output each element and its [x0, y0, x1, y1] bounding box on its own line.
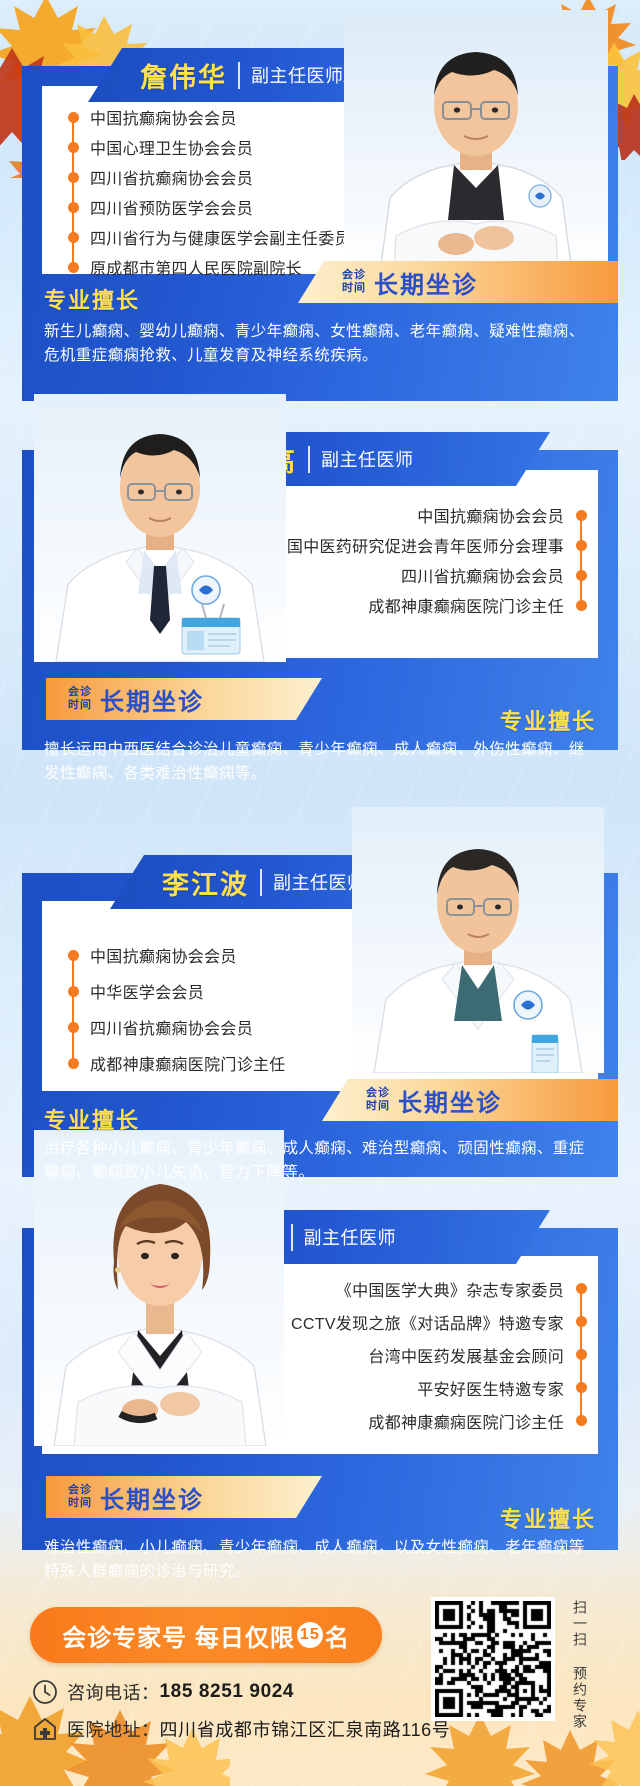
bullet-dot — [68, 172, 79, 183]
specialty-text: 难治性癫痫、小儿癫痫、青少年癫痫、成人癫痫，以及女性癫痫、老年癫痫等特殊人群癫痫… — [44, 1536, 600, 1584]
qr-side-text: 扫一扫 预约专家 — [566, 1600, 588, 1730]
credential-text: 中国抗癫痫协会会员 — [84, 105, 243, 129]
bullet-column — [62, 192, 84, 222]
specialty-title: 专业擅长 — [44, 283, 140, 315]
doctor-photo — [352, 807, 604, 1073]
doctor-name: 李江波 — [162, 863, 249, 902]
specialty-text: 擅长运用中西医结合诊治儿童癫痫、青少年癫痫、成人癫痫、外伤性癫痫、继发性癫痫、各… — [44, 738, 600, 786]
bullet-dot — [68, 112, 79, 123]
credential-text: 成都神康癫痫医院门诊主任 — [362, 593, 570, 617]
credential-text: 四川省抗癫痫协会会员 — [395, 563, 570, 587]
consult-time-value: 长期坐诊 — [374, 265, 478, 300]
name-divider — [238, 62, 240, 89]
credential-text: CCTV发现之旅《对话品牌》特邀专家 — [285, 1310, 570, 1334]
credential-item: 中国抗癫痫协会会员 — [62, 937, 292, 973]
credential-text: 中国抗癫痫协会会员 — [84, 943, 243, 967]
consult-time-label: 会诊 时间 — [68, 686, 92, 712]
credential-text: 平安好医生特邀专家 — [411, 1376, 570, 1400]
consult-time-badge: 会诊 时间 长期坐诊 — [298, 261, 618, 303]
bullet-dot — [68, 1058, 79, 1069]
bullet-column — [62, 1045, 84, 1081]
bullet-dot — [576, 540, 587, 551]
credential-item: 中国中医药研究促进会青年医师分会理事 — [265, 530, 592, 560]
bullet-dot — [68, 262, 79, 273]
credential-item: 成都神康癫痫医院门诊主任 — [62, 1045, 292, 1081]
credentials-list: 中国抗癫痫协会会员 中国心理卫生协会会员 四川省抗癫痫协会会员 四川省预防医学会… — [62, 102, 357, 282]
credential-item: 四川省预防医学会会员 — [62, 192, 357, 222]
consult-time-label-line2: 时间 — [68, 699, 92, 712]
bullet-column — [62, 252, 84, 282]
bullet-column — [570, 560, 592, 590]
credential-item: 成都神康癫痫医院门诊主任 — [265, 590, 592, 620]
phone-label: 咨询电话： — [67, 1679, 160, 1705]
cta-prefix: 会诊专家号 每日仅限 — [62, 1618, 295, 1653]
specialty-title: 专业擅长 — [500, 1502, 596, 1534]
credential-text: 四川省抗癫痫协会会员 — [84, 165, 259, 189]
name-divider — [260, 869, 262, 896]
credential-item: 平安好医生特邀专家 — [285, 1371, 592, 1404]
doctor-name: 詹伟华 — [140, 56, 227, 95]
credential-text: 台湾中医药发展基金会顾问 — [362, 1343, 570, 1367]
address-label: 医院地址： — [67, 1716, 160, 1742]
consult-time-value: 长期坐诊 — [100, 682, 204, 717]
credential-item: 四川省抗癫痫协会会员 — [265, 560, 592, 590]
credential-text: 中华医学会会员 — [84, 979, 210, 1003]
credential-item: CCTV发现之旅《对话品牌》特邀专家 — [285, 1305, 592, 1338]
doctor-photo — [34, 394, 286, 662]
credential-text: 中国抗癫痫协会会员 — [411, 503, 570, 527]
credential-text: 成都神康癫痫医院门诊主任 — [362, 1409, 570, 1433]
bullet-dot — [68, 142, 79, 153]
credential-text: 《中国医学大典》杂志专家委员 — [330, 1277, 570, 1301]
specialty-text: 治疗各种小儿癫痫、青少年癫痫、成人癫痫、难治型癫痫、顽固性癫痫、重症癫痫、癫痫致… — [44, 1137, 600, 1185]
credential-item: 台湾中医药发展基金会顾问 — [285, 1338, 592, 1371]
consult-time-label: 会诊 时间 — [366, 1087, 390, 1113]
bullet-dot — [68, 232, 79, 243]
bullet-dot — [68, 986, 79, 997]
consult-time-label-line1: 会诊 — [68, 686, 92, 699]
bullet-dot — [576, 1316, 587, 1327]
phone-value[interactable]: 185 8251 9024 — [160, 1681, 295, 1703]
bullet-column — [62, 1009, 84, 1045]
credential-text: 四川省行为与健康医学会副主任委员 — [84, 225, 357, 249]
credential-text: 四川省预防医学会会员 — [84, 195, 259, 219]
cta-label: 会诊专家号 每日仅限 15 名 — [62, 1618, 350, 1653]
credential-item: 成都神康癫痫医院门诊主任 — [285, 1404, 592, 1437]
consult-time-value: 长期坐诊 — [398, 1083, 502, 1118]
credential-item: 原成都市第四人民医院副院长 — [62, 252, 357, 282]
cta-button[interactable]: 会诊专家号 每日仅限 15 名 — [30, 1607, 382, 1663]
cta-limit-number: 15 — [297, 1622, 323, 1648]
bullet-dot — [576, 1382, 587, 1393]
specialty-title: 专业擅长 — [500, 704, 596, 736]
cta-suffix: 名 — [325, 1618, 350, 1653]
credentials-list: 《中国医学大典》杂志专家委员 CCTV发现之旅《对话品牌》特邀专家 台湾中医药发… — [285, 1272, 592, 1437]
doctor-title: 副主任医师 — [304, 1224, 397, 1250]
address-value: 四川省成都市锦江区汇泉南路116号 — [160, 1716, 451, 1742]
consult-time-label: 会诊 时间 — [68, 1484, 92, 1510]
consult-time-label-line1: 会诊 — [68, 1484, 92, 1497]
consult-time-label-line1: 会诊 — [366, 1087, 390, 1100]
bullet-column — [62, 162, 84, 192]
consult-time-label: 会诊 时间 — [342, 269, 366, 295]
bullet-dot — [576, 1283, 587, 1294]
credential-item: 中国心理卫生协会会员 — [62, 132, 357, 162]
bullet-dot — [576, 570, 587, 581]
bullet-dot — [68, 1022, 79, 1033]
specialty-text: 新生儿癫痫、婴幼儿癫痫、青少年癫痫、女性癫痫、老年癫痫、疑难性癫痫、危机重症癫痫… — [44, 320, 600, 368]
bullet-dot — [68, 202, 79, 213]
credential-item: 四川省行为与健康医学会副主任委员 — [62, 222, 357, 252]
credential-item: 四川省抗癫痫协会会员 — [62, 1009, 292, 1045]
bullet-column — [62, 973, 84, 1009]
consult-time-label-line2: 时间 — [68, 1497, 92, 1510]
credential-text: 原成都市第四人民医院副院长 — [84, 255, 308, 279]
hospital-icon — [32, 1716, 58, 1742]
consult-time-value: 长期坐诊 — [100, 1480, 204, 1515]
credentials-list: 中国抗癫痫协会会员 中华医学会会员 四川省抗癫痫协会会员 成都神康癫痫医院门诊主… — [62, 937, 292, 1081]
bullet-column — [62, 937, 84, 973]
bullet-column — [570, 1404, 592, 1437]
clock-icon — [32, 1679, 58, 1705]
bullet-column — [62, 132, 84, 162]
consult-time-label-line2: 时间 — [342, 282, 366, 295]
credential-item: 中国抗癫痫协会会员 — [265, 500, 592, 530]
qr-code-canvas — [435, 1601, 551, 1717]
phone-row: 咨询电话： 185 8251 9024 — [32, 1679, 294, 1705]
credentials-list: 中国抗癫痫协会会员 中国中医药研究促进会青年医师分会理事 四川省抗癫痫协会会员 … — [265, 500, 592, 620]
consult-time-badge: 会诊 时间 长期坐诊 — [46, 678, 322, 720]
specialty-title: 专业擅长 — [44, 1103, 140, 1135]
consult-time-label-line1: 会诊 — [342, 269, 366, 282]
doctor-photo — [344, 10, 608, 272]
bullet-dot — [576, 510, 587, 521]
bullet-column — [570, 1305, 592, 1338]
credential-text: 中国心理卫生协会会员 — [84, 135, 259, 159]
qr-code[interactable] — [431, 1597, 555, 1721]
doctor-title: 副主任医师 — [321, 446, 414, 472]
poster-root: 詹伟华 副主任医师/院长 — [0, 0, 640, 1786]
credential-item: 四川省抗癫痫协会会员 — [62, 162, 357, 192]
bullet-dot — [576, 600, 587, 611]
bullet-dot — [576, 1349, 587, 1360]
bullet-column — [570, 1338, 592, 1371]
bullet-column — [570, 500, 592, 530]
consult-time-badge: 会诊 时间 长期坐诊 — [46, 1476, 322, 1518]
consult-time-badge: 会诊 时间 长期坐诊 — [322, 1079, 618, 1121]
bullet-column — [62, 102, 84, 132]
credential-text: 中国中医药研究促进会青年医师分会理事 — [265, 533, 570, 557]
name-divider — [308, 446, 310, 473]
address-row: 医院地址： 四川省成都市锦江区汇泉南路116号 — [32, 1716, 450, 1742]
credential-text: 四川省抗癫痫协会会员 — [84, 1015, 259, 1039]
consult-time-label-line2: 时间 — [366, 1100, 390, 1113]
credential-text: 成都神康癫痫医院门诊主任 — [84, 1051, 292, 1075]
credential-item: 中国抗癫痫协会会员 — [62, 102, 357, 132]
name-divider — [291, 1224, 293, 1251]
bullet-column — [62, 222, 84, 252]
bullet-column — [570, 530, 592, 560]
credential-item: 《中国医学大典》杂志专家委员 — [285, 1272, 592, 1305]
credential-item: 中华医学会会员 — [62, 973, 292, 1009]
bullet-dot — [576, 1415, 587, 1426]
bullet-column — [570, 1371, 592, 1404]
bullet-column — [570, 1272, 592, 1305]
bullet-dot — [68, 950, 79, 961]
bullet-column — [570, 590, 592, 620]
